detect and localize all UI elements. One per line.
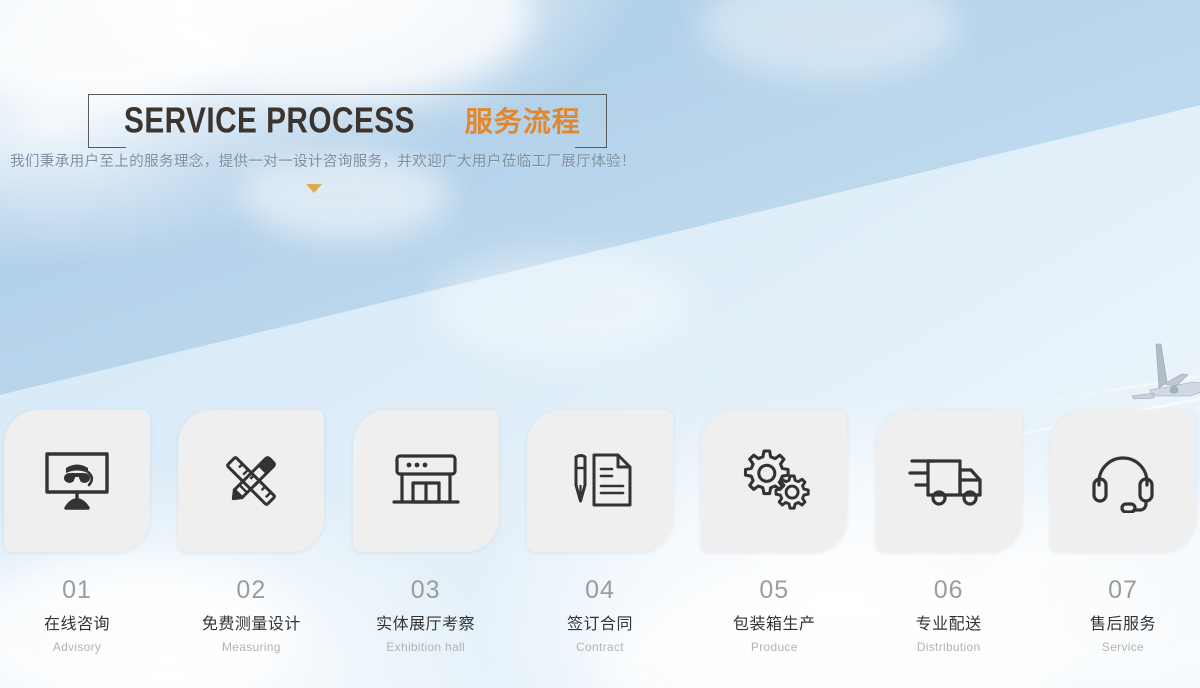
monitor-phone-icon xyxy=(41,448,113,514)
frame-left-border xyxy=(88,94,89,148)
step-label-en: Exhibition hall xyxy=(353,640,499,654)
step-item[interactable]: 04 签订合同 Contract xyxy=(527,410,673,654)
pen-document-icon xyxy=(564,448,636,514)
step-item[interactable]: 07 售后服务 Service xyxy=(1050,410,1196,654)
service-process-banner: SERVICE PROCESS 服务流程 我们秉承用户至上的服务理念，提供一对一… xyxy=(0,0,1200,688)
step-number: 05 xyxy=(701,576,847,605)
step-number: 02 xyxy=(178,576,324,605)
step-icon-card[interactable] xyxy=(4,410,150,552)
step-icon-card[interactable] xyxy=(178,410,324,552)
step-item[interactable]: 06 专业配送 Distribution xyxy=(876,410,1022,654)
step-label-cn: 实体展厅考察 xyxy=(353,610,499,634)
step-number: 04 xyxy=(527,576,673,605)
step-icon-card[interactable] xyxy=(527,410,673,552)
step-label-en: Advisory xyxy=(4,640,150,654)
step-label-en: Contract xyxy=(527,640,673,654)
caret-down-icon xyxy=(306,184,322,193)
step-number: 01 xyxy=(4,576,150,605)
step-label-cn: 在线咨询 xyxy=(4,610,150,634)
step-label-en: Service xyxy=(1050,640,1196,654)
step-label-en: Produce xyxy=(701,640,847,654)
subtitle-text: 我们秉承用户至上的服务理念，提供一对一设计咨询服务，并欢迎广大用户莅临工厂展厅体… xyxy=(10,150,636,171)
frame-top-border xyxy=(88,94,607,95)
title-chinese: 服务流程 xyxy=(465,100,581,140)
step-label-cn: 售后服务 xyxy=(1050,610,1196,634)
ruler-pencil-icon xyxy=(216,448,286,514)
step-label-en: Distribution xyxy=(876,640,1022,654)
step-icon-card[interactable] xyxy=(701,410,847,552)
title-frame: SERVICE PROCESS 服务流程 xyxy=(88,94,607,148)
step-label-cn: 专业配送 xyxy=(876,610,1022,634)
frame-right-border xyxy=(606,94,607,148)
step-item[interactable]: 03 实体展厅考察 Exhibition hall xyxy=(353,410,499,654)
airplane-icon xyxy=(1120,338,1200,412)
delivery-truck-icon xyxy=(908,452,990,510)
step-icon-card[interactable] xyxy=(1050,410,1196,552)
step-item[interactable]: 01 在线咨询 Advisory xyxy=(4,410,150,654)
step-label-cn: 包装箱生产 xyxy=(701,610,847,634)
step-label-en: Measuring xyxy=(178,640,324,654)
frame-bottom-left-stub xyxy=(88,147,126,148)
step-number: 03 xyxy=(353,576,499,605)
step-number: 06 xyxy=(876,576,1022,605)
page-title: SERVICE PROCESS 服务流程 xyxy=(124,100,581,140)
step-item[interactable]: 02 免费测量设计 Measuring xyxy=(178,410,324,654)
step-label-cn: 免费测量设计 xyxy=(178,610,324,634)
headset-icon xyxy=(1087,449,1159,513)
step-icon-card[interactable] xyxy=(876,410,1022,552)
title-english: SERVICE PROCESS xyxy=(124,100,415,141)
frame-bottom-right-stub xyxy=(575,147,607,148)
step-number: 07 xyxy=(1050,576,1196,605)
step-label-cn: 签订合同 xyxy=(527,610,673,634)
step-item[interactable]: 05 包装箱生产 Produce xyxy=(701,410,847,654)
storefront-icon xyxy=(389,450,463,512)
step-icon-card[interactable] xyxy=(353,410,499,552)
gears-icon xyxy=(736,448,812,514)
header-block: SERVICE PROCESS 服务流程 xyxy=(88,94,607,148)
service-steps-list: 01 在线咨询 Advisory xyxy=(0,410,1200,654)
